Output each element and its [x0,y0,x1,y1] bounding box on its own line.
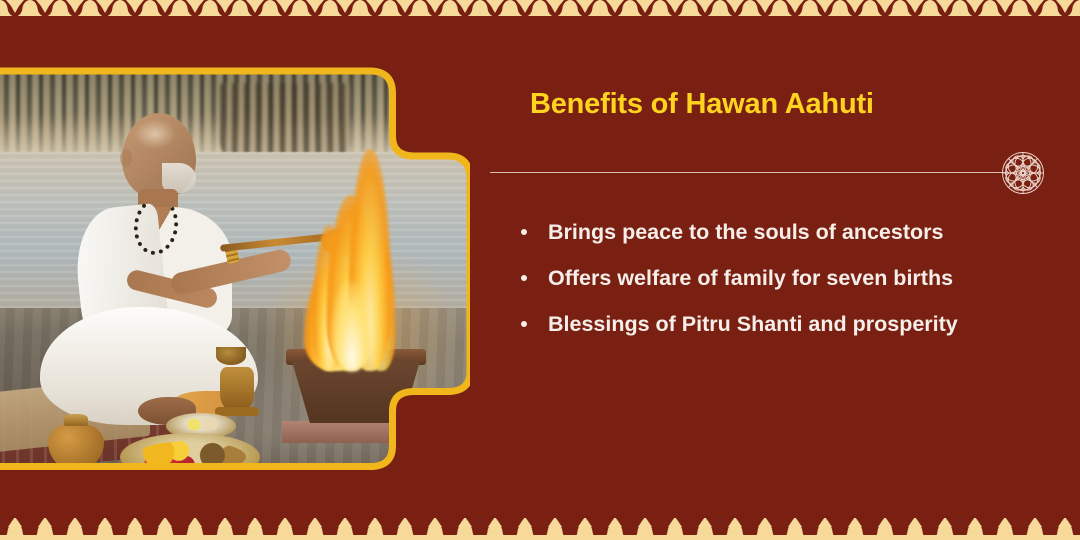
bullet-dot-icon [521,321,527,327]
list-item-label: Blessings of Pitru Shanti and prosperity [548,312,958,336]
brass-lota [220,367,254,411]
divider-row [490,158,1080,188]
hawan-kund-base [282,421,430,443]
offering-thali-large [120,433,260,481]
list-item: Brings peace to the souls of ancestors [512,212,1032,252]
scalloped-border-bottom [0,518,1080,540]
page-title: Benefits of Hawan Aahuti [530,88,874,121]
bullet-dot-icon [521,229,527,235]
list-item: Blessings of Pitru Shanti and prosperity [512,304,1032,344]
scalloped-border-top [0,0,1080,22]
list-item-label: Brings peace to the souls of ancestors [548,220,943,244]
offering-bowl [216,347,246,365]
photo-clip-region [0,47,470,483]
priest-ear [120,149,132,167]
list-item-label: Offers welfare of family for seven birth… [548,266,953,290]
hawan-ritual-photo [0,47,470,483]
list-item: Offers welfare of family for seven birth… [512,258,1032,298]
benefits-list: Brings peace to the souls of ancestors O… [512,212,1032,350]
sacred-fire-flame [300,141,420,371]
slide-canvas: Benefits of Hawan Aahuti Brings peace to… [0,0,1080,540]
bullet-dot-icon [521,275,527,281]
content-column: Benefits of Hawan Aahuti Brings peace to… [490,0,1080,540]
horizontal-divider [490,172,1006,173]
mandala-rosette-icon [995,145,1051,201]
hawan-ritual-image-card [0,47,470,483]
